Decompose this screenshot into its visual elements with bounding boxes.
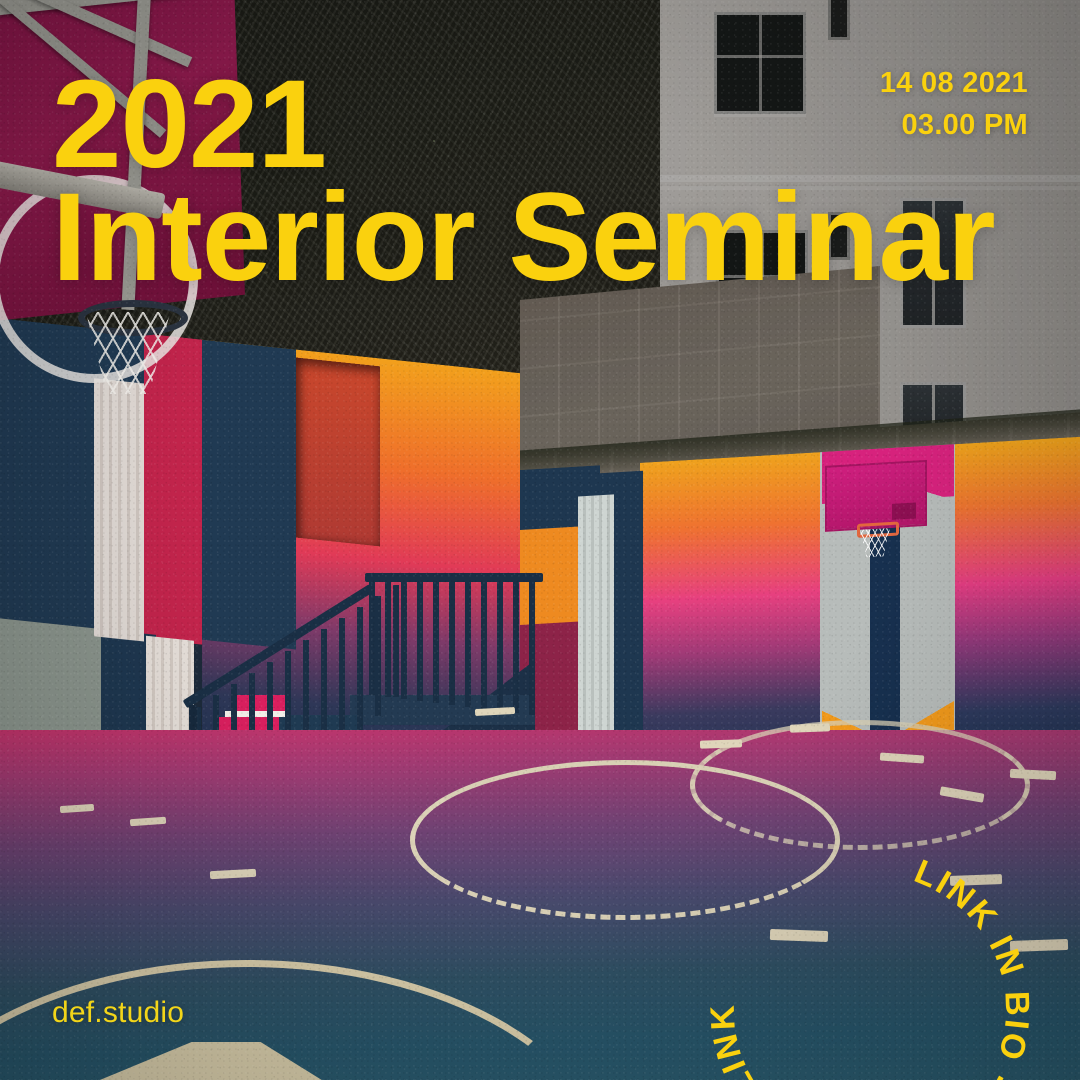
title-line-year: 2021 (52, 69, 995, 182)
studio-handle: def.studio (52, 996, 184, 1030)
title-line-subject: Interior Seminar (52, 182, 995, 295)
text-overlay: 2021 Interior Seminar 14 08 2021 03.00 P… (0, 0, 1080, 1080)
event-time: 03.00 PM (880, 104, 1028, 146)
poster-canvas: 2021 Interior Seminar 14 08 2021 03.00 P… (0, 0, 1080, 1080)
event-datetime: 14 08 2021 03.00 PM (880, 62, 1028, 146)
event-date: 14 08 2021 (880, 62, 1028, 104)
page-title: 2021 Interior Seminar (52, 69, 995, 294)
link-in-bio-text: LINK IN BIO · LINK IN BIO · LINK IN BIO … (691, 815, 1037, 1080)
link-in-bio-badge[interactable]: LINK IN BIO · LINK IN BIO · LINK IN BIO … (705, 845, 1035, 1080)
